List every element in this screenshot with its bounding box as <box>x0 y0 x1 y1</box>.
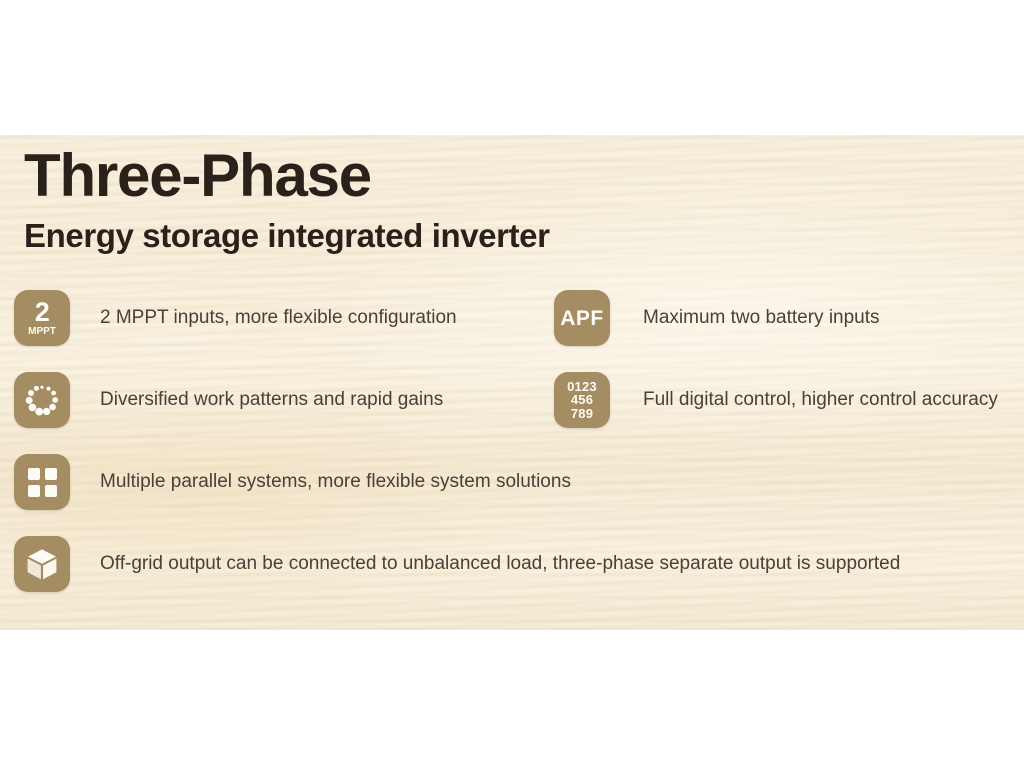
feature-item-parallel-systems: Multiple parallel systems, more flexible… <box>14 454 571 510</box>
apf-icon: APF <box>554 290 610 346</box>
feature-row: Diversified work patterns and rapid gain… <box>0 372 1024 454</box>
page-root: Three-Phase Energy storage integrated in… <box>0 0 1024 768</box>
feature-item-apf: APF Maximum two battery inputs <box>554 290 880 346</box>
feature-item-offgrid-output: Off-grid output can be connected to unba… <box>14 536 900 592</box>
feature-item-digital-control: 0123 456 789 Full digital control, highe… <box>554 372 998 428</box>
grid-cell <box>28 485 40 497</box>
feature-row: 2 MPPT 2 MPPT inputs, more flexible conf… <box>0 290 1024 372</box>
feature-item-mppt: 2 MPPT 2 MPPT inputs, more flexible conf… <box>14 290 457 346</box>
spinner-dots-icon <box>14 372 70 428</box>
cube-3d-icon-svg <box>25 547 59 581</box>
feature-label: Full digital control, higher control acc… <box>643 388 998 412</box>
banner-heading-block: Three-Phase Energy storage integrated in… <box>24 145 550 254</box>
feature-label: Off-grid output can be connected to unba… <box>100 552 900 576</box>
product-banner: Three-Phase Energy storage integrated in… <box>0 135 1024 630</box>
mppt-2-icon: 2 MPPT <box>14 290 70 346</box>
apf-icon-label: APF <box>560 308 604 329</box>
digits-icon-row-1: 0123 <box>567 380 597 393</box>
spinner-dots-icon-svg <box>24 382 60 418</box>
feature-label: 2 MPPT inputs, more flexible configurati… <box>100 306 457 330</box>
feature-row: Multiple parallel systems, more flexible… <box>0 454 1024 536</box>
mppt-icon-label: MPPT <box>28 327 56 337</box>
page-title: Three-Phase <box>24 145 550 207</box>
feature-item-work-patterns: Diversified work patterns and rapid gain… <box>14 372 443 428</box>
digits-icon: 0123 456 789 <box>554 372 610 428</box>
grid-cell <box>45 468 57 480</box>
feature-row: Off-grid output can be connected to unba… <box>0 536 1024 618</box>
feature-label: Diversified work patterns and rapid gain… <box>100 388 443 412</box>
feature-list: 2 MPPT 2 MPPT inputs, more flexible conf… <box>0 290 1024 618</box>
grid-cell <box>28 468 40 480</box>
page-subtitle: Energy storage integrated inverter <box>24 218 550 254</box>
grid-cell <box>45 485 57 497</box>
digits-icon-row-3: 789 <box>571 407 593 420</box>
feature-label: Maximum two battery inputs <box>643 306 880 330</box>
feature-label: Multiple parallel systems, more flexible… <box>100 470 571 494</box>
cube-3d-icon <box>14 536 70 592</box>
digits-icon-row-2: 456 <box>571 393 593 406</box>
mppt-icon-number: 2 <box>35 299 50 326</box>
grid-four-squares-icon <box>14 454 70 510</box>
